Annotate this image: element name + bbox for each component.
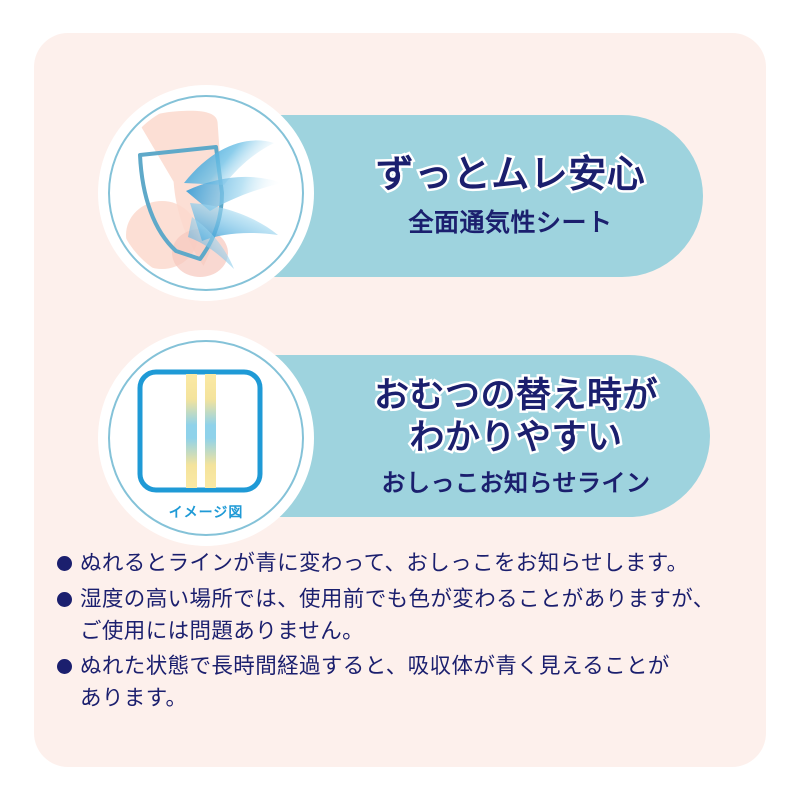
note-line: 湿度の高い場所では、使用前でも色が変わることがありますが、 [80,584,757,616]
note-line: ぬれるとラインが青に変わって、おしっこをお知らせします。 [80,548,757,580]
note-item: 湿度の高い場所では、使用前でも色が変わることがありますが、 ご使用には問題ありま… [57,584,757,648]
note-line: ご使用には問題ありません。 [80,616,757,648]
feature-row-breathability: ずっとムレ安心 全面通気性シート [0,112,800,297]
bullet-dot-icon [57,592,72,607]
note-line: ぬれた状態で長時間経過すると、吸収体が青く見えることが [80,651,757,683]
feature-headline-line-1: おむつの替え時が [374,375,658,417]
feature-icon-badge [98,85,314,301]
image-illustration-caption: イメージ図 [98,502,314,522]
feature-icon-badge: イメージ図 [98,330,314,546]
feature-text-block: おむつの替え時が わかりやすい おしっこお知らせライン [322,352,710,520]
bullet-dot-icon [57,659,72,674]
feature-headline: ずっとムレ安心 [376,153,646,198]
feature-subheadline: 全面通気性シート [408,203,612,239]
note-line: あります。 [80,683,757,715]
feature-headline-line-2: わかりやすい [409,417,622,459]
feature-subheadline: おしっこお知らせライン [381,463,650,498]
feature-text-block: ずっとムレ安心 全面通気性シート [318,112,703,280]
bullet-dot-icon [57,556,72,571]
product-feature-infographic: ずっとムレ安心 全面通気性シート [0,0,800,800]
note-item: ぬれた状態で長時間経過すると、吸収体が青く見えることが あります。 [57,651,757,715]
feature-row-wetness-indicator: おむつの替え時が わかりやすい おしっこお知らせライン [0,352,800,527]
note-item: ぬれるとラインが青に変わって、おしっこをお知らせします。 [57,548,757,580]
notes-list: ぬれるとラインが青に変わって、おしっこをお知らせします。 湿度の高い場所では、使… [57,548,757,719]
badge-ring-decor [108,95,304,291]
